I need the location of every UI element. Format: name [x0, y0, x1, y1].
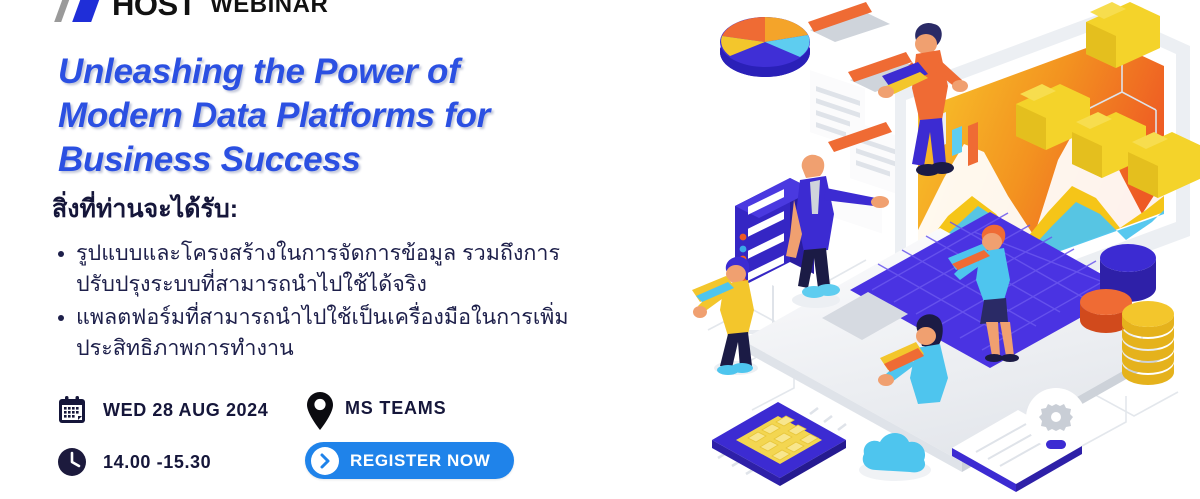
- isometric-data-platform-illustration: [690, 0, 1200, 499]
- benefit-1-line-2: ปรับปรุงระบบที่สามารถนำไปใช้ได้จริง: [76, 269, 662, 300]
- arrowhead-logo-icon: [58, 0, 110, 22]
- register-now-button[interactable]: REGISTER NOW: [305, 442, 514, 479]
- venue-row: MS TEAMS: [305, 388, 446, 432]
- location-pin-icon: [305, 391, 335, 429]
- brand-header: HOST WEBINAR: [58, 0, 328, 22]
- list-item: แพลตฟอร์มที่สามารถนำไปใช้เป็นเครื่องมือใ…: [52, 302, 662, 364]
- calendar-icon: [55, 393, 89, 427]
- event-date: WED 28 AUG 2024: [103, 400, 268, 421]
- pie-chart: [720, 17, 810, 77]
- event-venue: MS TEAMS: [345, 398, 446, 419]
- content-column: HOST WEBINAR Unleashing the Power of Mod…: [0, 0, 700, 499]
- brand-name: HOST: [112, 0, 196, 22]
- benefit-2-line-1: แพลตฟอร์มที่สามารถนำไปใช้เป็นเครื่องมือใ…: [76, 305, 569, 329]
- title-line-1: Unleashing the Power of: [58, 50, 658, 94]
- list-item: รูปแบบและโครงสร้างในการจัดการข้อมูล รวมถ…: [52, 238, 662, 300]
- microchip: [712, 402, 846, 486]
- date-row: WED 28 AUG 2024: [55, 388, 268, 432]
- benefits-heading: สิ่งที่ท่านจะได้รับ:: [52, 192, 238, 226]
- title-line-3: Business Success: [58, 138, 658, 182]
- chevron-right-circle-icon: [311, 447, 339, 475]
- event-time: 14.00 -15.30: [103, 452, 211, 473]
- time-row: 14.00 -15.30: [55, 440, 268, 484]
- page-title: Unleashing the Power of Modern Data Plat…: [58, 50, 658, 182]
- brand-kicker: WEBINAR: [210, 0, 328, 22]
- webinar-banner: HOST WEBINAR Unleashing the Power of Mod…: [0, 0, 1200, 499]
- benefit-1-line-1: รูปแบบและโครงสร้างในการจัดการข้อมูล รวมถ…: [76, 241, 560, 265]
- schedule-block: WED 28 AUG 2024 14.00 -15.30: [55, 388, 268, 492]
- benefit-2-line-2: ประสิทธิภาพการทำงาน: [76, 333, 662, 364]
- clock-icon: [55, 445, 89, 479]
- register-now-label: REGISTER NOW: [350, 451, 490, 471]
- title-line-2: Modern Data Platforms for: [58, 94, 658, 138]
- benefits-list: รูปแบบและโครงสร้างในการจัดการข้อมูล รวมถ…: [52, 238, 662, 366]
- venue-block: MS TEAMS: [305, 388, 446, 432]
